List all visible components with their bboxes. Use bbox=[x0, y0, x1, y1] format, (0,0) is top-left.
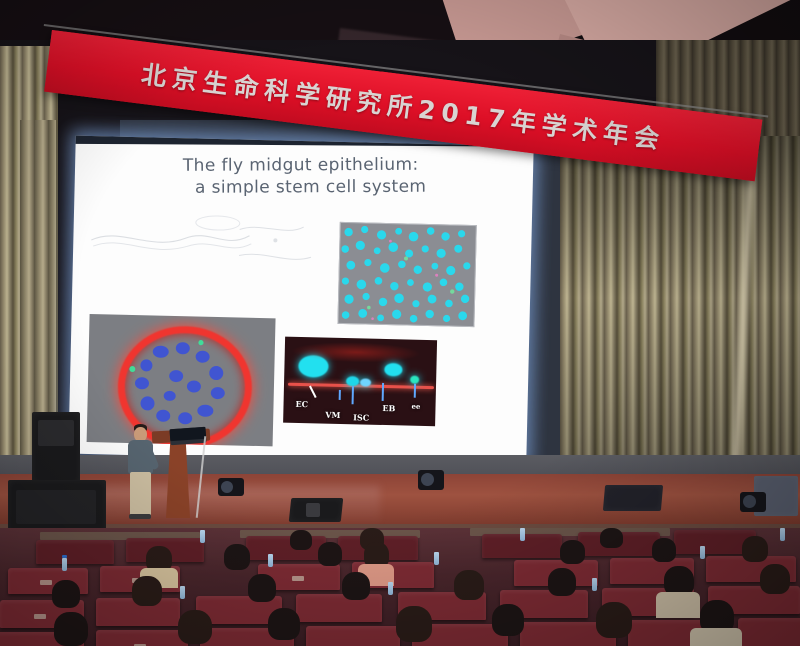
attendee-head bbox=[596, 602, 632, 638]
attendee-head bbox=[454, 570, 484, 600]
water-bottle bbox=[268, 554, 273, 567]
eb-nucleus bbox=[360, 378, 371, 386]
attendee-head bbox=[742, 536, 768, 562]
attendee-head bbox=[224, 544, 250, 570]
attendee-head bbox=[268, 608, 300, 640]
seat bbox=[36, 540, 114, 564]
subwoofer-grill bbox=[16, 490, 96, 524]
slide-title-line2: a simple stem cell system bbox=[195, 176, 513, 200]
ee-arrow-icon bbox=[414, 384, 416, 398]
seat-number-tag bbox=[40, 580, 52, 585]
attendee-head bbox=[560, 540, 585, 564]
attendee-head bbox=[396, 606, 432, 642]
water-bottle bbox=[200, 530, 205, 543]
seat bbox=[296, 594, 382, 622]
water-bottle bbox=[780, 528, 785, 541]
panel-cell-types: EC VM ISC EB ee bbox=[283, 337, 437, 427]
conference-banner: 北京生命科学研究所2017年学术年会 bbox=[52, 30, 782, 170]
label-eb: EB bbox=[382, 403, 395, 413]
attendee-shirt bbox=[656, 592, 700, 618]
presenter-laptop bbox=[169, 427, 206, 445]
panel-ring-section bbox=[87, 314, 276, 446]
seat bbox=[246, 536, 326, 560]
attendee-shirt bbox=[690, 628, 742, 646]
presenter-shoes bbox=[129, 514, 151, 519]
attendee-head bbox=[132, 576, 162, 606]
seat-number-tag bbox=[34, 614, 46, 619]
light-lens-3 bbox=[743, 495, 756, 508]
pa-speaker-grill bbox=[38, 420, 74, 446]
presenter-legs bbox=[130, 472, 151, 516]
stage-monitor-center-grill bbox=[306, 503, 320, 517]
attendee-head bbox=[52, 580, 80, 608]
enterocyte-nucleus-2 bbox=[384, 363, 402, 376]
panel-nuclei-field bbox=[337, 222, 476, 327]
attendee-head bbox=[342, 572, 370, 600]
red-haze bbox=[291, 341, 421, 364]
isc-arrow-icon bbox=[352, 386, 354, 404]
audience-area bbox=[0, 528, 800, 646]
attendee-head bbox=[178, 610, 212, 644]
fly-gut-line-drawing bbox=[89, 206, 341, 282]
water-bottle bbox=[592, 578, 597, 591]
label-ee: ee bbox=[411, 402, 420, 411]
attendee-head bbox=[600, 528, 623, 548]
moving-head-light-3 bbox=[740, 492, 766, 512]
attendee-head bbox=[54, 612, 88, 646]
projection-screen: The fly midgut epithelium: a simple stem… bbox=[68, 136, 533, 465]
attendee-head bbox=[248, 574, 276, 602]
seat-number-tag bbox=[292, 576, 304, 581]
moving-head-light-1 bbox=[218, 478, 244, 496]
attendee-head bbox=[548, 568, 576, 596]
banner-text: 北京生命科学研究所2017年学术年会 bbox=[44, 30, 762, 181]
seat bbox=[306, 626, 400, 646]
laptop-screen bbox=[169, 427, 206, 441]
attendee-head bbox=[318, 542, 342, 566]
moving-head-light-2 bbox=[418, 470, 444, 490]
light-lens-2 bbox=[421, 473, 434, 486]
label-isc: ISC bbox=[353, 412, 369, 422]
water-bottle bbox=[180, 586, 185, 599]
attendee-head bbox=[652, 538, 676, 562]
label-vm: VM bbox=[325, 410, 340, 420]
water-bottle bbox=[62, 558, 67, 571]
water-bottle bbox=[388, 582, 393, 595]
eb-arrow-icon bbox=[382, 383, 384, 401]
conference-photo-scene: The fly midgut epithelium: a simple stem… bbox=[0, 0, 800, 646]
light-lens-1 bbox=[221, 481, 233, 493]
water-bottle bbox=[700, 546, 705, 559]
attendee-head bbox=[290, 530, 312, 550]
bottle-cap bbox=[62, 555, 67, 558]
water-bottle bbox=[520, 528, 525, 541]
ec-arrow-icon bbox=[309, 386, 317, 399]
attendee-head bbox=[492, 604, 524, 636]
vm-arrow-icon bbox=[339, 390, 341, 400]
water-bottle bbox=[434, 552, 439, 565]
seat bbox=[738, 618, 800, 646]
label-ec: EC bbox=[295, 399, 308, 409]
ee-nucleus bbox=[410, 376, 419, 384]
stage-monitor-right bbox=[603, 485, 663, 511]
attendee-head bbox=[760, 564, 790, 594]
lectern-body bbox=[166, 440, 190, 518]
curtain-right-shading bbox=[560, 136, 800, 496]
